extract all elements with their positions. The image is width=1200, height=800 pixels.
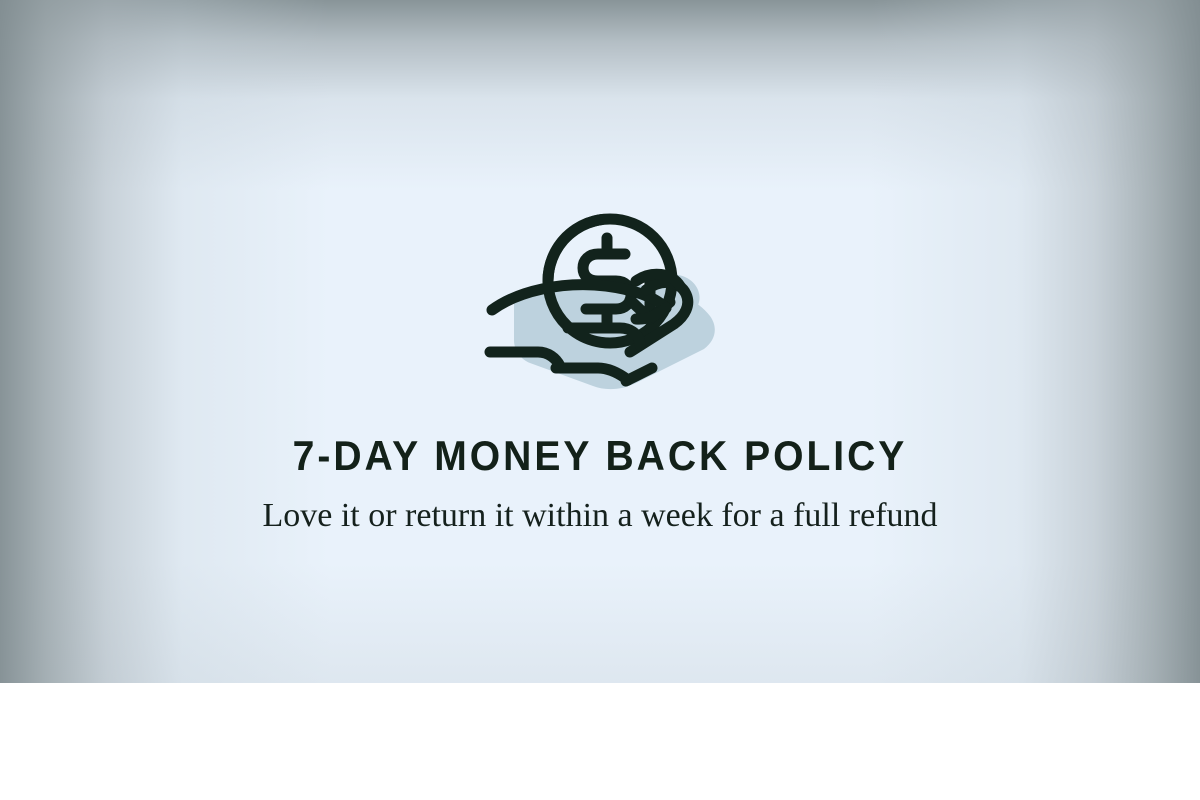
vignette-bottom-edge (0, 563, 1200, 683)
page-subtitle: Love it or return it within a week for a… (190, 494, 1010, 538)
page-title: 7-DAY MONEY BACK POLICY (42, 432, 1158, 480)
icon-container (0, 150, 1200, 395)
money-back-hand-icon (470, 150, 730, 395)
footer-bar: Rydell (701) 772-7211 rydellchev.com (0, 683, 1200, 800)
money-back-policy-promo-card: 7-DAY MONEY BACK POLICY Love it or retur… (0, 0, 1200, 800)
